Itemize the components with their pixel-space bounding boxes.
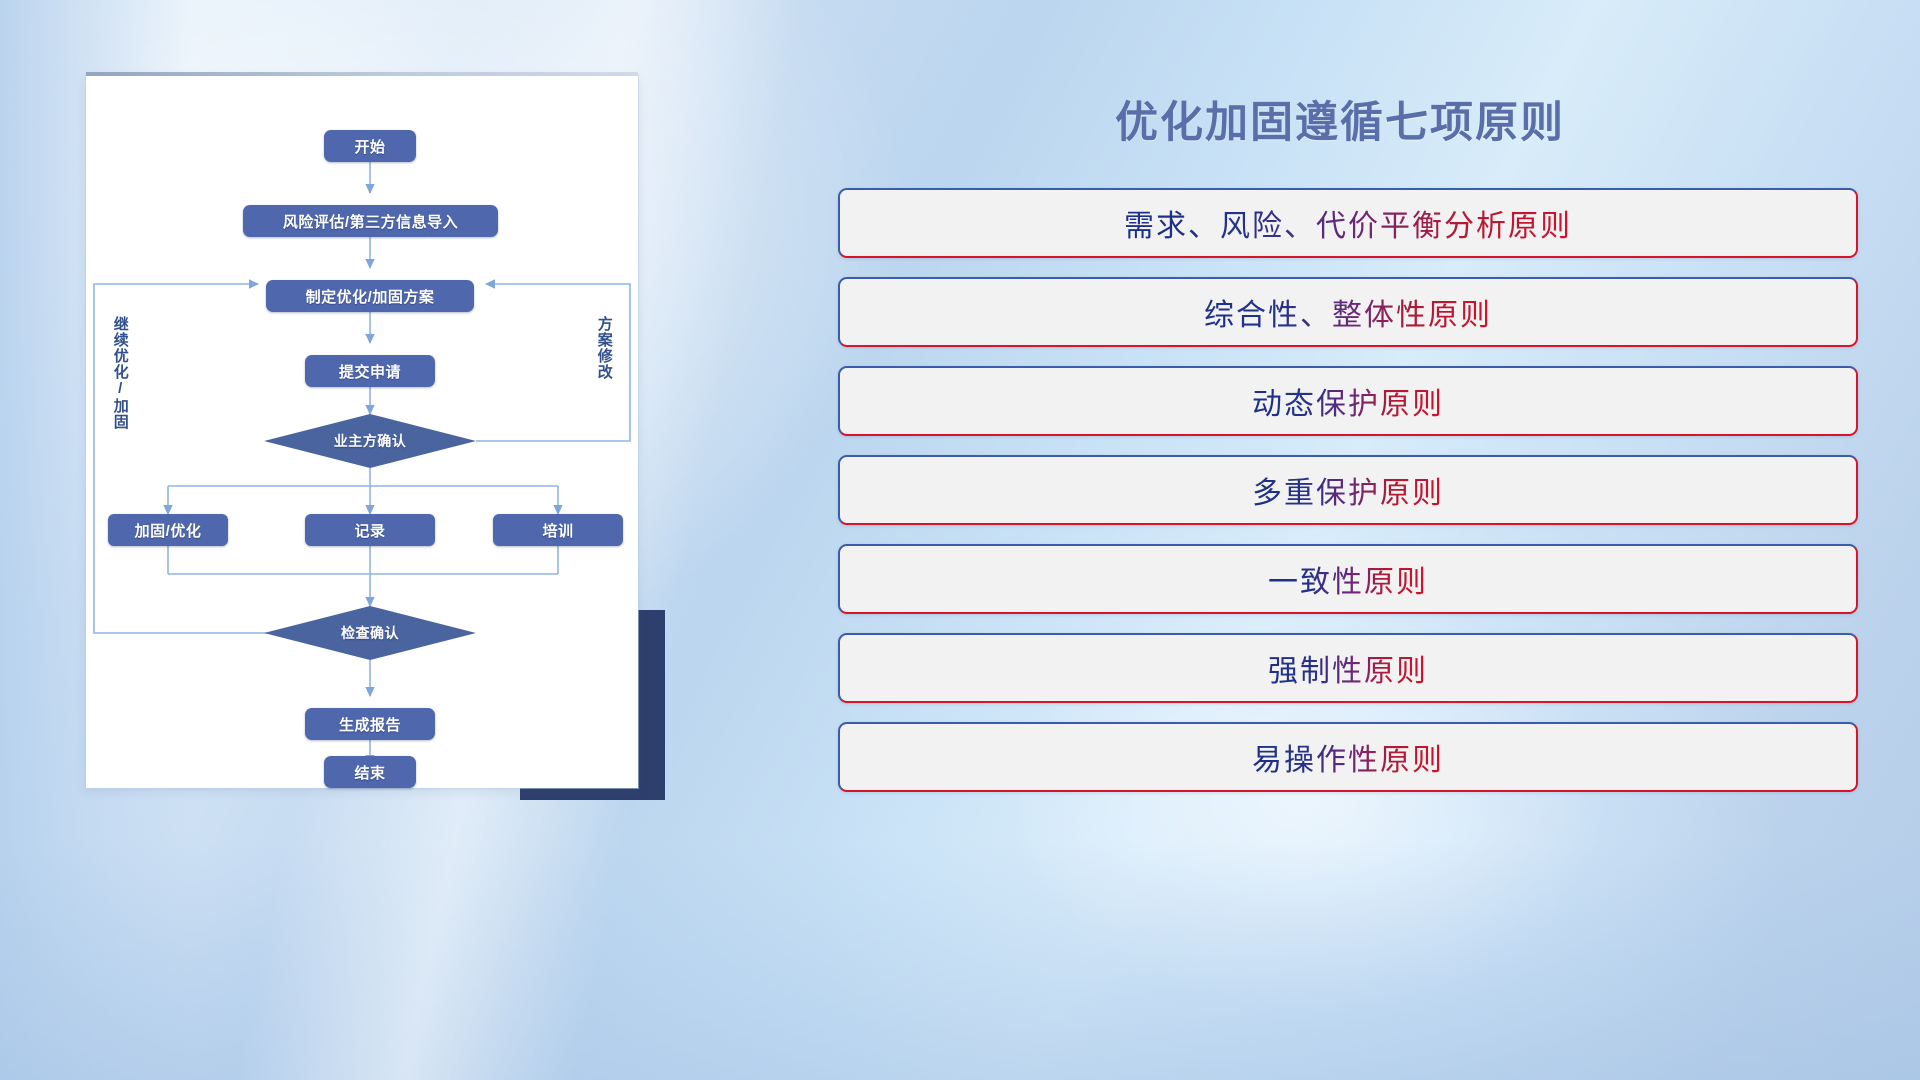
principle-item-1[interactable]: 需求、风险、代价平衡分析原则 (838, 188, 1858, 258)
flow-node-training-label: 培训 (542, 520, 573, 541)
flow-node-check-confirm[interactable]: 检查确认 (264, 606, 476, 660)
flow-node-training[interactable]: 培训 (493, 514, 623, 546)
principle-item-6-label: 强制性原则 (1268, 646, 1428, 690)
flow-node-report-label: 生成报告 (339, 714, 401, 735)
flow-node-owner-confirm[interactable]: 业主方确认 (264, 414, 476, 468)
principle-item-2-label: 综合性、整体性原则 (1204, 290, 1492, 334)
flow-node-reinforce[interactable]: 加固/优化 (108, 514, 228, 546)
flow-node-owner-confirm-label: 业主方确认 (334, 431, 407, 451)
flow-node-record-label: 记录 (354, 520, 385, 541)
flow-node-start[interactable]: 开始 (324, 130, 416, 162)
flow-node-risk-assessment-label: 风险评估/第三方信息导入 (283, 211, 458, 232)
principles-list: 需求、风险、代价平衡分析原则 综合性、整体性原则 动态保护原则 多重保护原则 一… (838, 188, 1858, 811)
flowchart-card: 开始 风险评估/第三方信息导入 制定优化/加固方案 提交申请 业主方确认 加固/… (86, 76, 638, 788)
flow-node-reinforce-label: 加固/优化 (135, 520, 202, 541)
principle-item-7[interactable]: 易操作性原则 (838, 722, 1858, 792)
flow-edge-label-left: 继续优化/加固 (112, 316, 128, 451)
principle-item-4[interactable]: 多重保护原则 (838, 455, 1858, 525)
principle-item-2[interactable]: 综合性、整体性原则 (838, 277, 1858, 347)
flow-node-start-label: 开始 (354, 136, 385, 157)
flow-node-plan[interactable]: 制定优化/加固方案 (266, 280, 474, 312)
flow-node-submit-label: 提交申请 (339, 361, 401, 382)
flow-edge-label-right: 方案修改 (596, 316, 612, 416)
flow-node-end-label: 结束 (354, 762, 385, 783)
principle-item-1-label: 需求、风险、代价平衡分析原则 (1124, 201, 1572, 245)
principle-item-4-label: 多重保护原则 (1252, 468, 1444, 512)
flow-node-end[interactable]: 结束 (324, 756, 416, 788)
flow-node-submit[interactable]: 提交申请 (305, 355, 435, 387)
principles-panel: 优化加固遵循七项原则 需求、风险、代价平衡分析原则 综合性、整体性原则 动态保护… (820, 60, 1880, 1020)
principle-item-6[interactable]: 强制性原则 (838, 633, 1858, 703)
principle-item-5[interactable]: 一致性原则 (838, 544, 1858, 614)
flow-node-risk-assessment[interactable]: 风险评估/第三方信息导入 (243, 205, 498, 237)
principles-title: 优化加固遵循七项原则 (820, 88, 1860, 150)
flow-node-report[interactable]: 生成报告 (305, 708, 435, 740)
principle-item-5-label: 一致性原则 (1268, 557, 1428, 601)
flow-node-record[interactable]: 记录 (305, 514, 435, 546)
principle-item-7-label: 易操作性原则 (1252, 735, 1444, 779)
principle-item-3[interactable]: 动态保护原则 (838, 366, 1858, 436)
flow-node-plan-label: 制定优化/加固方案 (306, 286, 435, 307)
principle-item-3-label: 动态保护原则 (1252, 379, 1444, 423)
flow-node-check-confirm-label: 检查确认 (341, 623, 399, 643)
